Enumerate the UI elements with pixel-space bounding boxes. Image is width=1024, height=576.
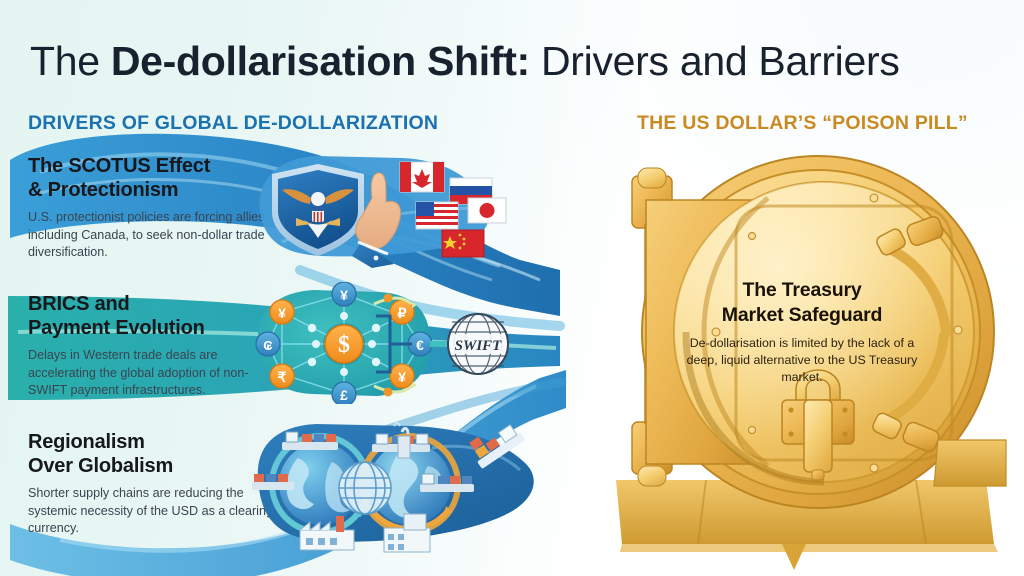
illustration-supply-chain-globes xyxy=(252,418,542,553)
svg-text:€: € xyxy=(416,337,424,353)
title-tail: Drivers and Barriers xyxy=(530,38,900,84)
infographic-canvas: The De-dollarisation Shift: Drivers and … xyxy=(0,0,1024,576)
vault-body: De-dollarisation is limited by the lack … xyxy=(686,335,918,386)
page-title: The De-dollarisation Shift: Drivers and … xyxy=(30,34,1005,88)
driver-heading-line1: The SCOTUS Effect xyxy=(28,155,210,177)
driver-heading-line2: & Protectionism xyxy=(28,179,178,201)
currency-node-usd: $ xyxy=(323,323,365,365)
currency-node-rupee: ₹ xyxy=(270,364,294,388)
svg-text:¥: ¥ xyxy=(340,287,348,303)
flag-japan-icon xyxy=(468,198,506,223)
currency-node-yuan-left: ¥ xyxy=(270,300,294,324)
illustration-currency-network: $ ¥ ¥ ₽ € ₢ ₹ ¥ xyxy=(252,282,514,404)
svg-text:₢: ₢ xyxy=(263,338,273,353)
svg-text:¥: ¥ xyxy=(398,369,406,385)
svg-text:¥: ¥ xyxy=(278,305,286,321)
driver-block-scotus: The SCOTUS Effect & Protectionism U.S. p… xyxy=(28,154,278,262)
title-emphasis: De-dollarisation Shift: xyxy=(111,38,530,84)
svg-text:₹: ₹ xyxy=(278,369,287,385)
container-ship-icon xyxy=(282,432,338,450)
driver-body: Delays in Western trade deals are accele… xyxy=(28,347,278,400)
illustration-shield-flags xyxy=(252,146,514,268)
driver-heading-line1: Regionalism xyxy=(28,431,145,453)
driver-heading-line2: Over Globalism xyxy=(28,455,173,477)
svg-text:$: $ xyxy=(338,332,350,358)
vault-callout: The Treasury Market Safeguard De-dollari… xyxy=(686,278,918,386)
vault-heading: The Treasury Market Safeguard xyxy=(686,278,918,328)
globe-grid-icon xyxy=(339,462,391,514)
swift-label: SWIFT xyxy=(455,338,503,354)
driver-block-brics: BRICS and Payment Evolution Delays in We… xyxy=(28,292,278,400)
driver-body: U.S. protectionist policies are forcing … xyxy=(28,209,278,262)
container-ship-icon xyxy=(252,474,294,490)
driver-heading-line2: Payment Evolution xyxy=(28,317,205,339)
vault-side-block xyxy=(934,440,1006,486)
driver-heading: Regionalism Over Globalism xyxy=(28,430,278,478)
flag-usa-icon xyxy=(416,202,458,229)
currency-node-yen-top: ¥ xyxy=(332,282,356,306)
driver-block-regionalism: Regionalism Over Globalism Shorter suppl… xyxy=(28,430,278,538)
driver-heading: BRICS and Payment Evolution xyxy=(28,292,278,340)
currency-node-lira: ₢ xyxy=(256,332,280,356)
swift-globe-icon: SWIFT xyxy=(448,314,508,374)
currency-node-yen-right: ¥ xyxy=(390,364,414,388)
vault-heading-line1: The Treasury xyxy=(743,279,862,301)
flag-china-icon xyxy=(442,230,484,257)
title-lead: The xyxy=(30,38,111,84)
flag-canada-icon xyxy=(400,162,444,192)
svg-text:₽: ₽ xyxy=(398,305,407,321)
currency-node-pound: £ xyxy=(332,382,356,404)
vault-heading-line2: Market Safeguard xyxy=(722,304,882,326)
svg-text:£: £ xyxy=(340,387,348,403)
driver-heading-line1: BRICS and xyxy=(28,293,130,315)
driver-body: Shorter supply chains are reducing the s… xyxy=(28,485,278,538)
driver-heading: The SCOTUS Effect & Protectionism xyxy=(28,154,278,202)
container-ship-icon xyxy=(420,474,474,492)
